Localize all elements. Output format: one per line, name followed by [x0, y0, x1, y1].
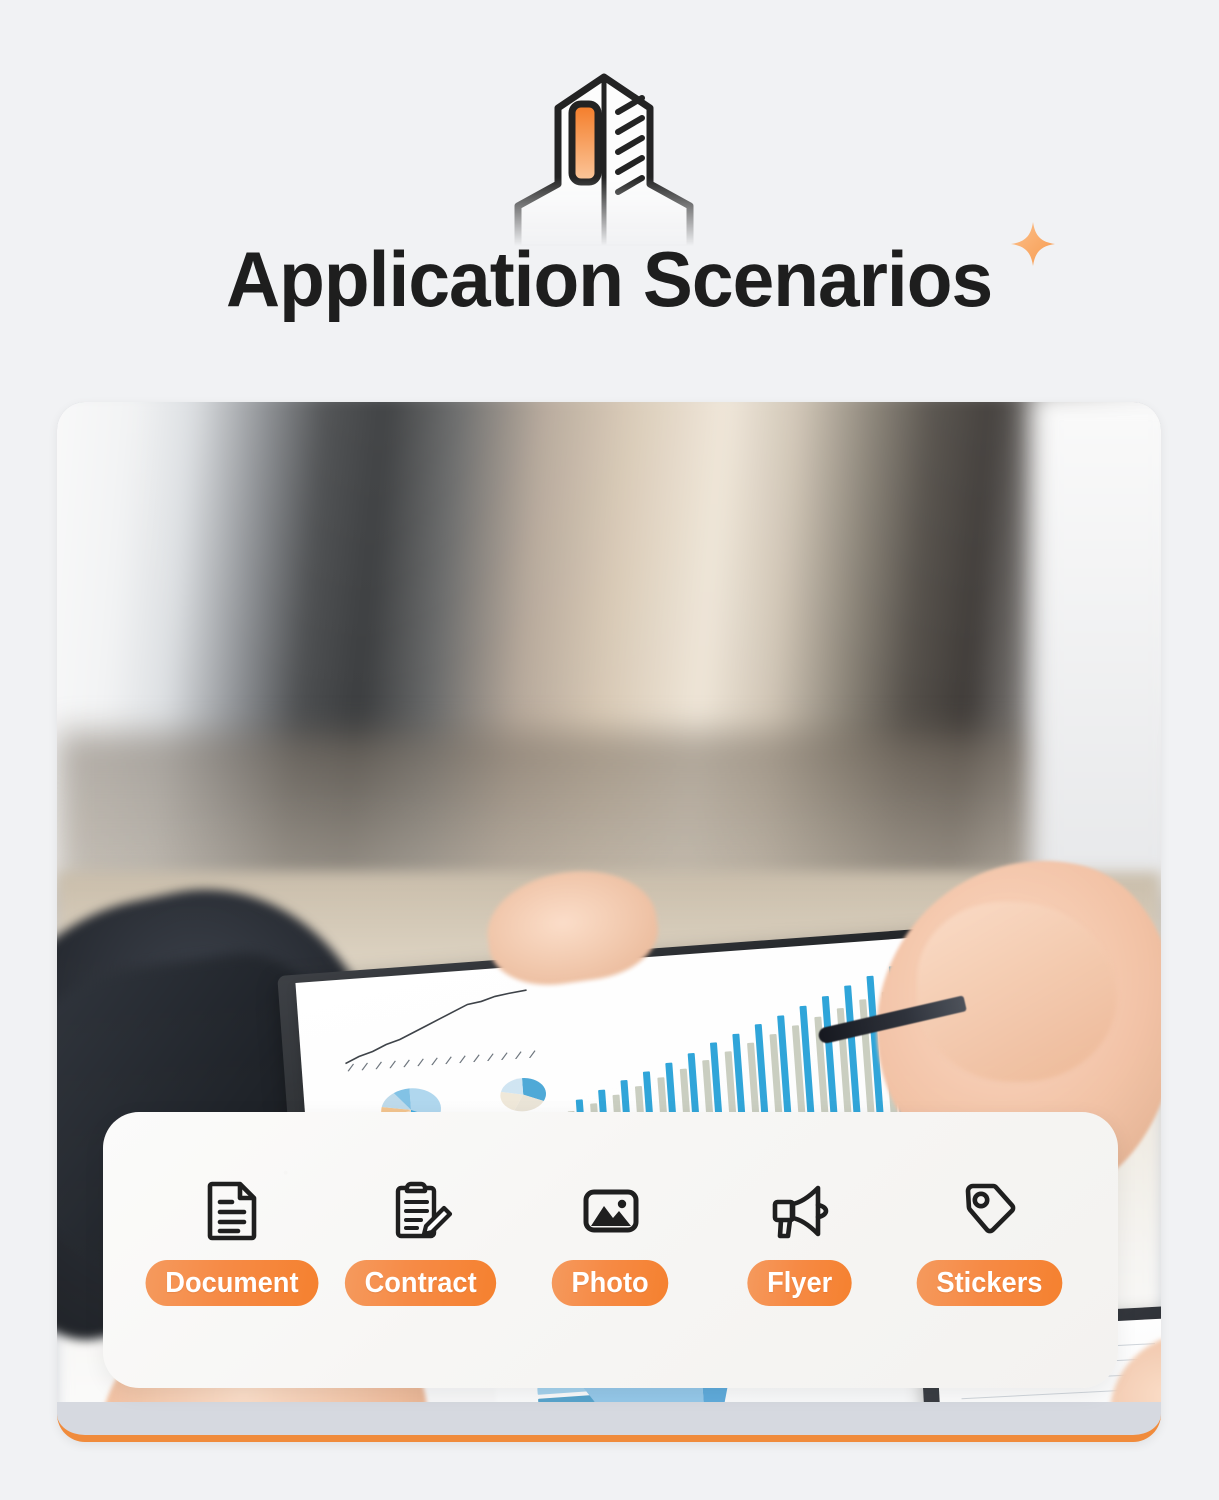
- tag-item-contract[interactable]: Contract: [326, 1174, 515, 1306]
- megaphone-icon: [764, 1174, 836, 1246]
- tag-item-photo[interactable]: Photo: [516, 1174, 705, 1306]
- tag-label-flyer[interactable]: Flyer: [748, 1260, 853, 1306]
- sparkle-star-icon: [1009, 220, 1057, 268]
- application-tags-list: Document Con: [103, 1112, 1118, 1388]
- page-root: Application Scenarios: [0, 0, 1219, 1500]
- header-section: Application Scenarios: [0, 0, 1219, 360]
- tag-label-photo[interactable]: Photo: [552, 1260, 669, 1306]
- image-icon: [575, 1174, 647, 1246]
- tag-item-document[interactable]: Document: [137, 1174, 326, 1306]
- photo-background-right-light: [1031, 402, 1161, 892]
- application-tags-card: Document Con: [103, 1112, 1118, 1388]
- building-icon: [494, 66, 716, 246]
- title-row: Application Scenarios: [0, 236, 1219, 322]
- tag-item-stickers[interactable]: Stickers: [895, 1174, 1084, 1306]
- page-title: Application Scenarios: [226, 236, 992, 322]
- document-icon: [196, 1174, 268, 1246]
- tag-label-contract[interactable]: Contract: [345, 1260, 497, 1306]
- clipboard-pencil-icon: [385, 1174, 457, 1246]
- tag-item-flyer[interactable]: Flyer: [705, 1174, 894, 1306]
- tag-label-stickers[interactable]: Stickers: [917, 1260, 1063, 1306]
- price-tag-icon: [953, 1174, 1025, 1246]
- trend-line-chart: [337, 987, 552, 1072]
- tag-label-document[interactable]: Document: [145, 1260, 318, 1306]
